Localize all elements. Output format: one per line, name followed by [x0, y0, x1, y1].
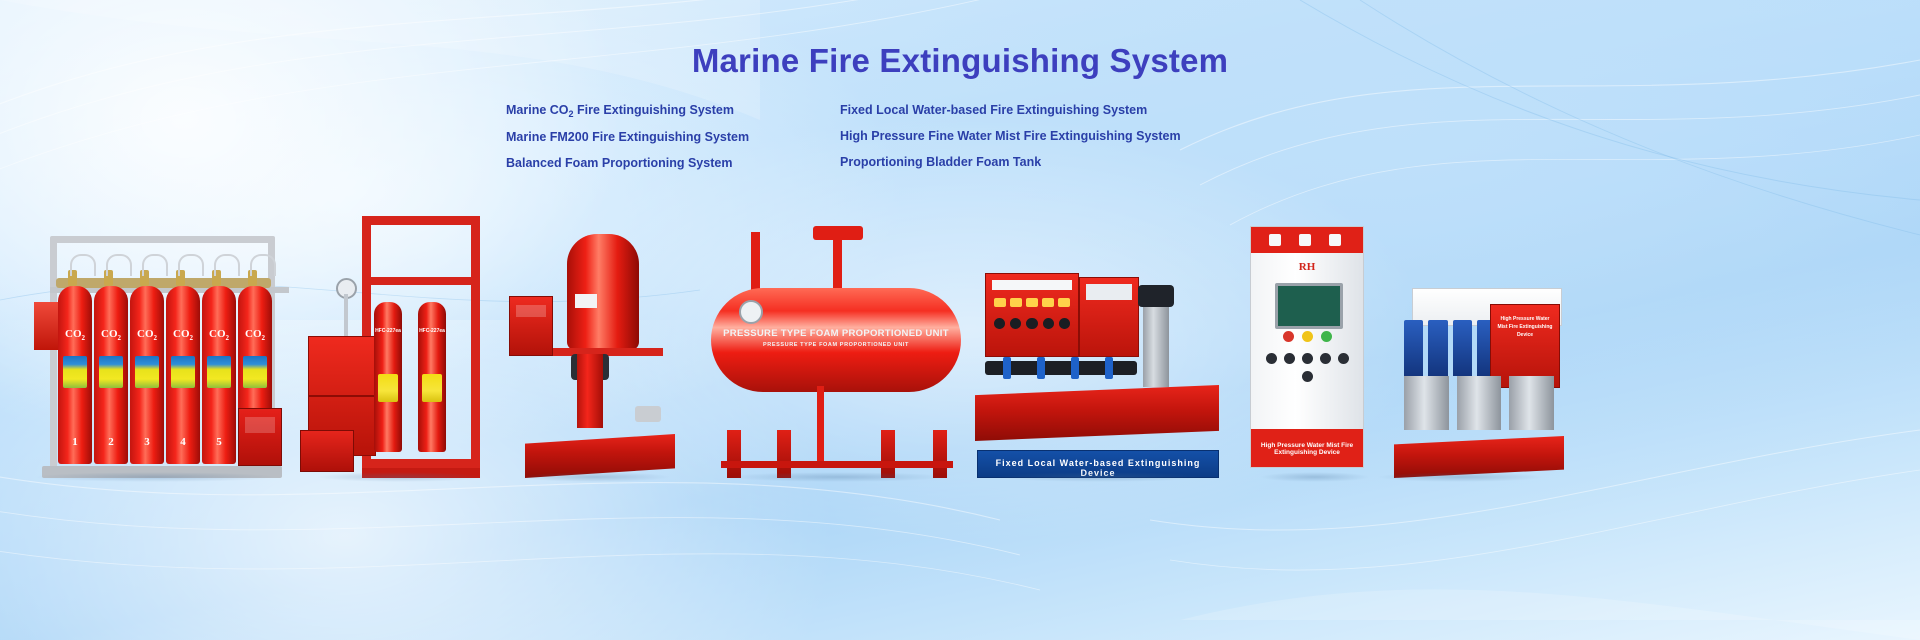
tank-leg-crossbar — [721, 461, 953, 468]
co2-cylinder: CO2 3 — [130, 286, 164, 464]
subscript-2: 2 — [569, 109, 574, 119]
control-panel-left — [985, 273, 1079, 357]
pipe-flange — [635, 406, 661, 422]
fm200-cylinder: HFC-227ea — [418, 302, 446, 452]
control-release-box — [238, 408, 282, 466]
nameplate — [575, 294, 597, 308]
list-item: Marine CO2 Fire Extinguishing System — [506, 101, 840, 120]
indicator-lamps — [1267, 331, 1347, 342]
vertical-foam-tank — [567, 234, 639, 350]
riser-pipe — [751, 232, 760, 292]
cylinder-number: 1 — [58, 436, 92, 448]
pump-body — [577, 354, 603, 428]
cylinder-number: 2 — [94, 436, 128, 448]
tank-printed-subtext: PRESSURE TYPE FOAM PROPORTIONED UNIT — [711, 342, 961, 348]
equipment-balanced-foam-proportioning-skid — [505, 228, 685, 478]
product-lists: Marine CO2 Fire Extinguishing System Mar… — [506, 101, 1206, 172]
tank-printed-text: PRESSURE TYPE FOAM PROPORTIONED UNIT — [711, 328, 961, 339]
list-item: Balanced Foam Proportioning System — [506, 154, 840, 172]
panel-screen — [1086, 284, 1132, 300]
panel-knobs — [994, 318, 1070, 329]
equipment-co2-cylinder-bank: CO2 1 CO2 2 CO2 3 CO2 4 — [10, 218, 300, 478]
cylinder-yellow-label — [378, 374, 398, 402]
pressure-gauge-icon — [739, 300, 763, 324]
ground-shadow — [519, 472, 670, 482]
brand-logo: RH — [1251, 261, 1363, 273]
cylinder-label — [171, 356, 195, 388]
product-list-right-column: Fixed Local Water-based Fire Extinguishi… — [840, 101, 1200, 172]
cylinder-valve — [140, 270, 149, 286]
cylinder-valve — [68, 270, 77, 286]
cylinder-marking: CO2 — [94, 328, 128, 342]
list-item: Proportioning Bladder Foam Tank — [840, 153, 1200, 171]
flexible-hose — [70, 254, 96, 276]
ground-shadow — [726, 472, 949, 482]
equipment-high-pressure-water-mist-skid: High Pressure Water Mist Fire Extinguish… — [1360, 288, 1560, 478]
cylinder-yellow-label — [422, 374, 442, 402]
ground-shadow — [1376, 472, 1544, 482]
fm200-cylinder: HFC-227ea — [374, 302, 402, 452]
cylinder-marking: CO2 — [130, 328, 164, 342]
co2-cylinder: CO2 5 — [202, 286, 236, 464]
ground-shadow — [995, 472, 1205, 482]
cylinder-valve — [104, 270, 113, 286]
control-panel-right — [1079, 277, 1139, 357]
cylinder-marking: CO2 — [202, 328, 236, 342]
cylinder-number: 5 — [202, 436, 236, 448]
ground-shadow — [33, 472, 277, 482]
cylinder-number: 3 — [130, 436, 164, 448]
co2-cylinder: CO2 1 — [58, 286, 92, 464]
cylinder-marking: CO2 — [166, 328, 200, 342]
cylinder-label-text: HFC-227ea — [418, 328, 446, 334]
panel-text: High Pressure Water Mist Fire Extinguish… — [1495, 315, 1555, 339]
cabinet-top-band — [1251, 227, 1363, 253]
tank-legs — [721, 430, 953, 478]
list-item: Marine FM200 Fire Extinguishing System — [506, 128, 840, 146]
tank-leg — [881, 430, 895, 478]
cylinder-label — [63, 356, 87, 388]
hmi-screen — [1275, 283, 1343, 329]
flexible-hose — [142, 254, 168, 276]
cylinder-label-text: HFC-227ea — [374, 328, 402, 334]
flexible-hose — [178, 254, 204, 276]
pump-row — [1404, 376, 1554, 430]
co2-cylinder: CO2 2 — [94, 286, 128, 464]
indicator-lights — [994, 298, 1070, 307]
equipment-fm200-system: HFC-227ea HFC-227ea — [300, 216, 500, 478]
push-buttons — [1265, 353, 1349, 382]
cylinder-valve — [248, 270, 257, 286]
tank-leg — [777, 430, 791, 478]
cylinder-label — [207, 356, 231, 388]
cylinder-marking: CO2 — [58, 328, 92, 342]
flexible-hose — [214, 254, 240, 276]
blue-pump-units — [1404, 320, 1496, 376]
cylinder-label — [135, 356, 159, 388]
flexible-hose — [250, 254, 276, 276]
co2-cylinder: CO2 4 — [166, 286, 200, 464]
cylinder-valve — [176, 270, 185, 286]
blue-valve-handle — [1003, 357, 1011, 379]
equipment-proportioning-bladder-foam-tank: PRESSURE TYPE FOAM PROPORTIONED UNIT PRE… — [705, 226, 970, 478]
blue-valve-handle — [1037, 357, 1045, 379]
cylinder-marking: CO2 — [238, 328, 272, 342]
cylinder-valve — [212, 270, 221, 286]
tank-leg — [933, 430, 947, 478]
cabinet-caption: High Pressure Water Mist Fire Extinguish… — [1251, 442, 1363, 456]
riser-pipe — [833, 226, 842, 292]
list-item: Fixed Local Water-based Fire Extinguishi… — [840, 101, 1200, 119]
ground-shadow — [1260, 472, 1369, 482]
ground-shadow — [316, 472, 484, 482]
cylinder-label — [243, 356, 267, 388]
list-item-suffix: Fire Extinguishing System — [574, 103, 734, 117]
skid-base-frame — [975, 385, 1219, 441]
equipment-photo-row: CO2 1 CO2 2 CO2 3 CO2 4 — [0, 178, 1920, 478]
tank-leg — [727, 430, 741, 478]
page-title: Marine Fire Extinguishing System — [0, 42, 1920, 80]
vertical-multistage-pump — [1143, 301, 1169, 387]
list-item-label: Marine CO — [506, 103, 569, 117]
marine-fire-extinguishing-banner: Marine Fire Extinguishing System Marine … — [0, 0, 1920, 640]
panel-label-strip — [992, 280, 1072, 290]
product-list-left-column: Marine CO2 Fire Extinguishing System Mar… — [506, 101, 840, 172]
control-box — [509, 296, 553, 356]
blue-valve-handle — [1105, 357, 1113, 379]
list-item: High Pressure Fine Water Mist Fire Extin… — [840, 127, 1200, 145]
steel-pipe — [344, 294, 348, 340]
flexible-hose — [106, 254, 132, 276]
cabinet-bottom-band: High Pressure Water Mist Fire Extinguish… — [1251, 429, 1363, 467]
equipment-fixed-local-water-based-unit: Fixed Local Water-based Extinguishing De… — [975, 273, 1225, 478]
cylinder-label — [99, 356, 123, 388]
cylinder-number: 4 — [166, 436, 200, 448]
cabinet-body: RH High Pressure Water Mist Fire Extingu… — [1250, 226, 1364, 468]
blue-valve-handle — [1071, 357, 1079, 379]
release-sign-box — [300, 430, 354, 472]
